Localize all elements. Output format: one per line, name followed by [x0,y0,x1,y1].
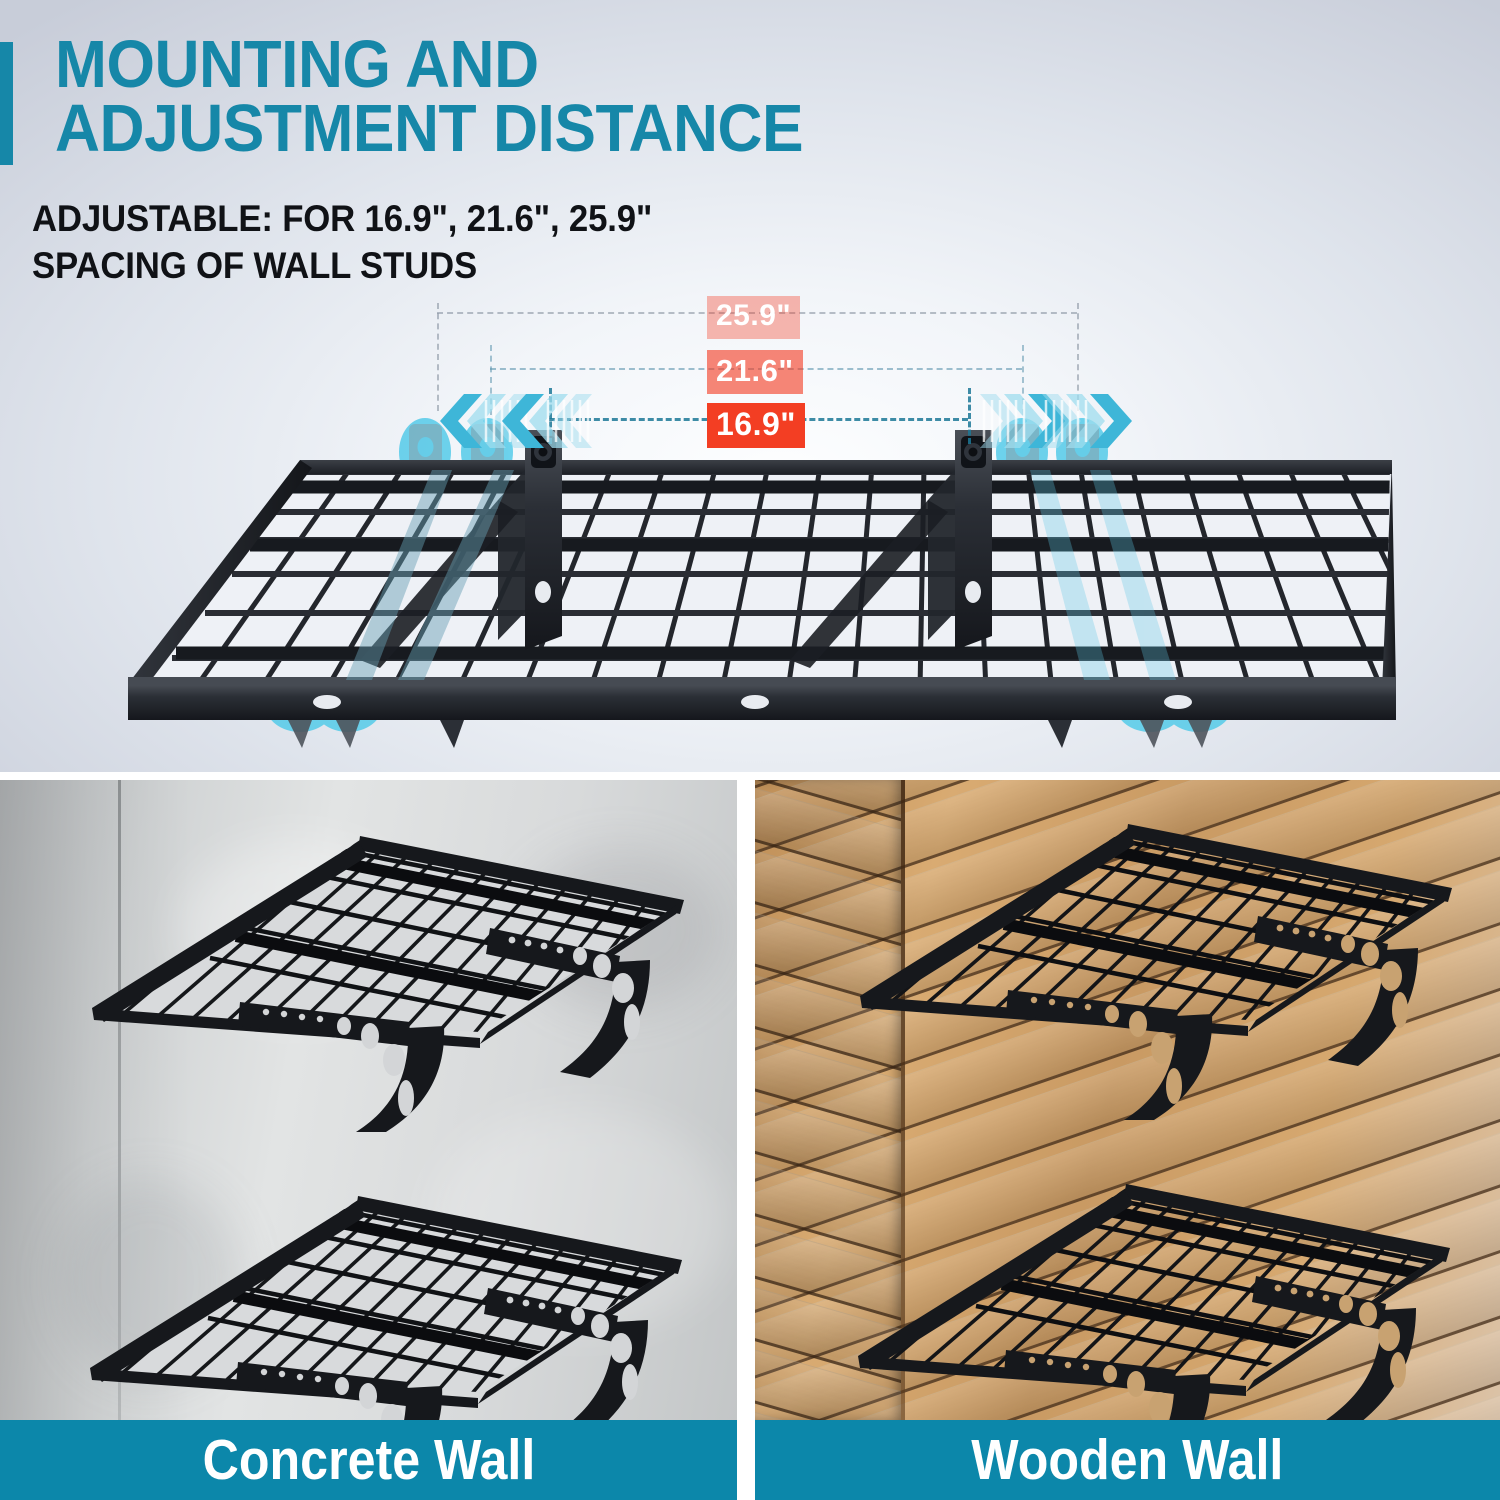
shelf-upper [823,820,1473,1120]
shelf-lower [821,1180,1471,1420]
caption-wooden-wall-text: Wooden Wall [971,1427,1283,1493]
caption-wooden-wall: Wooden Wall [755,1420,1500,1500]
measurement-badge-169: 16.9" [707,403,805,448]
mounting-diagram-panel: MOUNTING AND ADJUSTMENT DISTANCE ADJUSTA… [0,0,1500,772]
chevron-left-group-2 [492,392,612,450]
measurement-badge-216: 21.6" [707,350,803,394]
application-photos-row: Concrete Wall [0,772,1500,1500]
chevron-right-group-2 [1022,392,1142,450]
measurement-badge-259: 25.9" [707,296,800,339]
caption-concrete-wall-text: Concrete Wall [202,1427,535,1493]
wooden-wall-panel: Wooden Wall [755,780,1500,1500]
concrete-wall-photo [0,780,737,1420]
concrete-wall-panel: Concrete Wall [0,780,737,1500]
caption-concrete-wall: Concrete Wall [0,1420,737,1500]
shelf-upper [60,832,700,1132]
shelf-lower [58,1192,698,1420]
wooden-wall-photo [755,780,1500,1420]
